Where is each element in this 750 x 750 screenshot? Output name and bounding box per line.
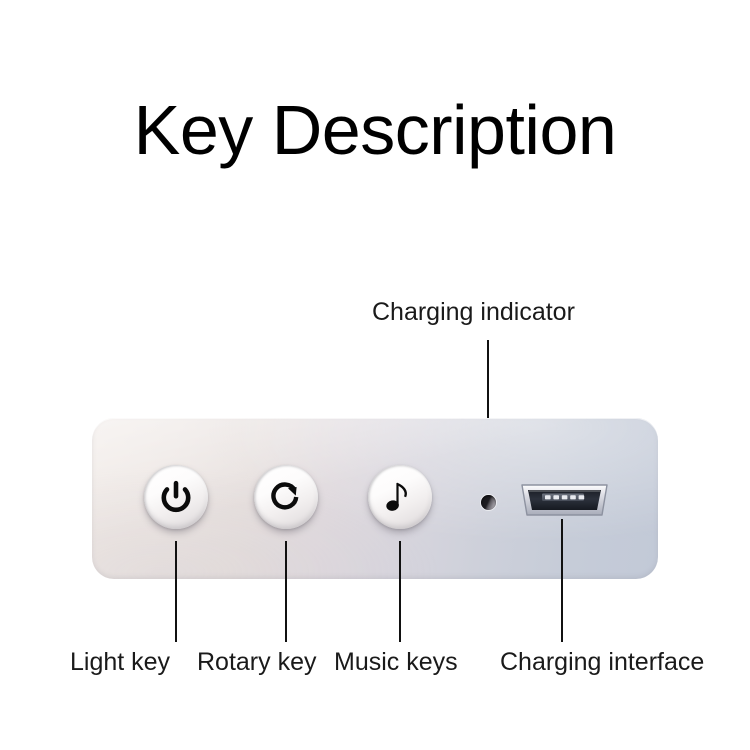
product-key-description-diagram: Key Description Charging indicator [0, 0, 750, 750]
rotary-key-label: Rotary key [197, 646, 316, 678]
bottom-callout-labels: Light key Rotary key Music keys Charging… [0, 646, 750, 678]
music-keys-label: Music keys [334, 646, 458, 678]
music-note-icon [383, 478, 417, 516]
charging-indicator-label: Charging indicator [372, 297, 575, 327]
led-dot-icon [481, 495, 496, 510]
leader-line-light-key [175, 541, 177, 642]
leader-line-music-keys [399, 541, 401, 642]
light-key-label: Light key [70, 646, 170, 678]
page-title: Key Description [0, 88, 750, 172]
micro-usb-icon [516, 481, 613, 521]
power-icon [158, 479, 194, 515]
leader-line-charging-interface [561, 519, 563, 642]
music-keys-button[interactable] [368, 465, 432, 529]
light-key-button[interactable] [144, 465, 208, 529]
rotate-icon [267, 478, 305, 516]
charging-interface-label: Charging interface [500, 646, 704, 678]
leader-line-rotary-key [285, 541, 287, 642]
rotary-key-button[interactable] [254, 465, 318, 529]
